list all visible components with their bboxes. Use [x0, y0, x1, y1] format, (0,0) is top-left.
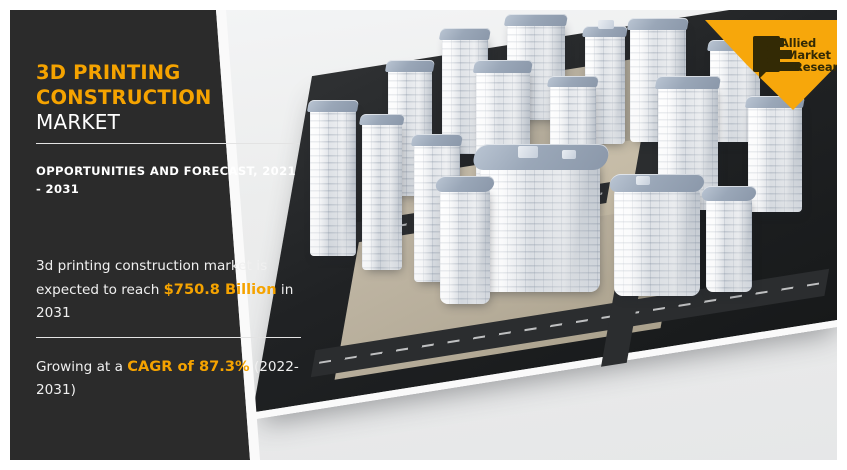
stat-cagr-value: CAGR of 87.3% — [127, 358, 249, 375]
panel-content: 3D PRINTING CONSTRUCTION MARKET OPPORTUN… — [36, 10, 304, 460]
card-surface: 3D PRINTING CONSTRUCTION MARKET OPPORTUN… — [10, 10, 837, 460]
title-line-1: 3D PRINTING — [36, 60, 304, 85]
building-roof — [471, 144, 611, 170]
building-foreground — [440, 186, 490, 304]
title-line-3: MARKET — [36, 110, 304, 135]
stat-cagr-lead: Growing at a — [36, 359, 127, 375]
building-foreground — [480, 160, 600, 292]
page-title: 3D PRINTING CONSTRUCTION MARKET — [36, 60, 304, 135]
roof-unit — [636, 176, 650, 185]
stat-cagr: Growing at a CAGR of 87.3% (2022-2031) — [36, 355, 304, 402]
building-roof — [473, 60, 533, 73]
roof-unit — [562, 150, 576, 159]
allied-market-research-logo[interactable]: Allied Market Research — [753, 36, 835, 80]
roof-unit — [598, 20, 614, 29]
building — [310, 106, 356, 256]
building-foreground — [706, 196, 752, 292]
brand-badge[interactable]: Allied Market Research — [695, 10, 837, 125]
building-roof — [547, 76, 599, 87]
title-line-2: CONSTRUCTION — [36, 85, 304, 110]
roof-unit — [518, 146, 538, 158]
building-roof — [359, 114, 405, 125]
building-foreground — [614, 186, 700, 296]
building — [362, 120, 402, 270]
stat-market-value: $750.8 Billion — [164, 281, 277, 298]
divider-top — [36, 143, 299, 144]
infographic-card: 3D PRINTING CONSTRUCTION MARKET OPPORTUN… — [0, 0, 847, 470]
building-roof — [700, 186, 757, 201]
logo-word-research: Research — [794, 60, 837, 74]
building-roof — [411, 134, 463, 146]
building-roof — [608, 174, 706, 192]
building-roof — [439, 28, 491, 40]
divider-bottom — [36, 337, 301, 338]
stat-market-size: 3d printing construction market is expec… — [36, 255, 304, 325]
building-roof — [307, 100, 359, 112]
building-roof — [434, 176, 495, 192]
building-roof — [627, 18, 689, 30]
building-roof — [504, 14, 568, 26]
building-roof — [385, 60, 435, 72]
report-subtitle: OPPORTUNITIES AND FORECAST, 2021 - 2031 — [36, 162, 304, 198]
